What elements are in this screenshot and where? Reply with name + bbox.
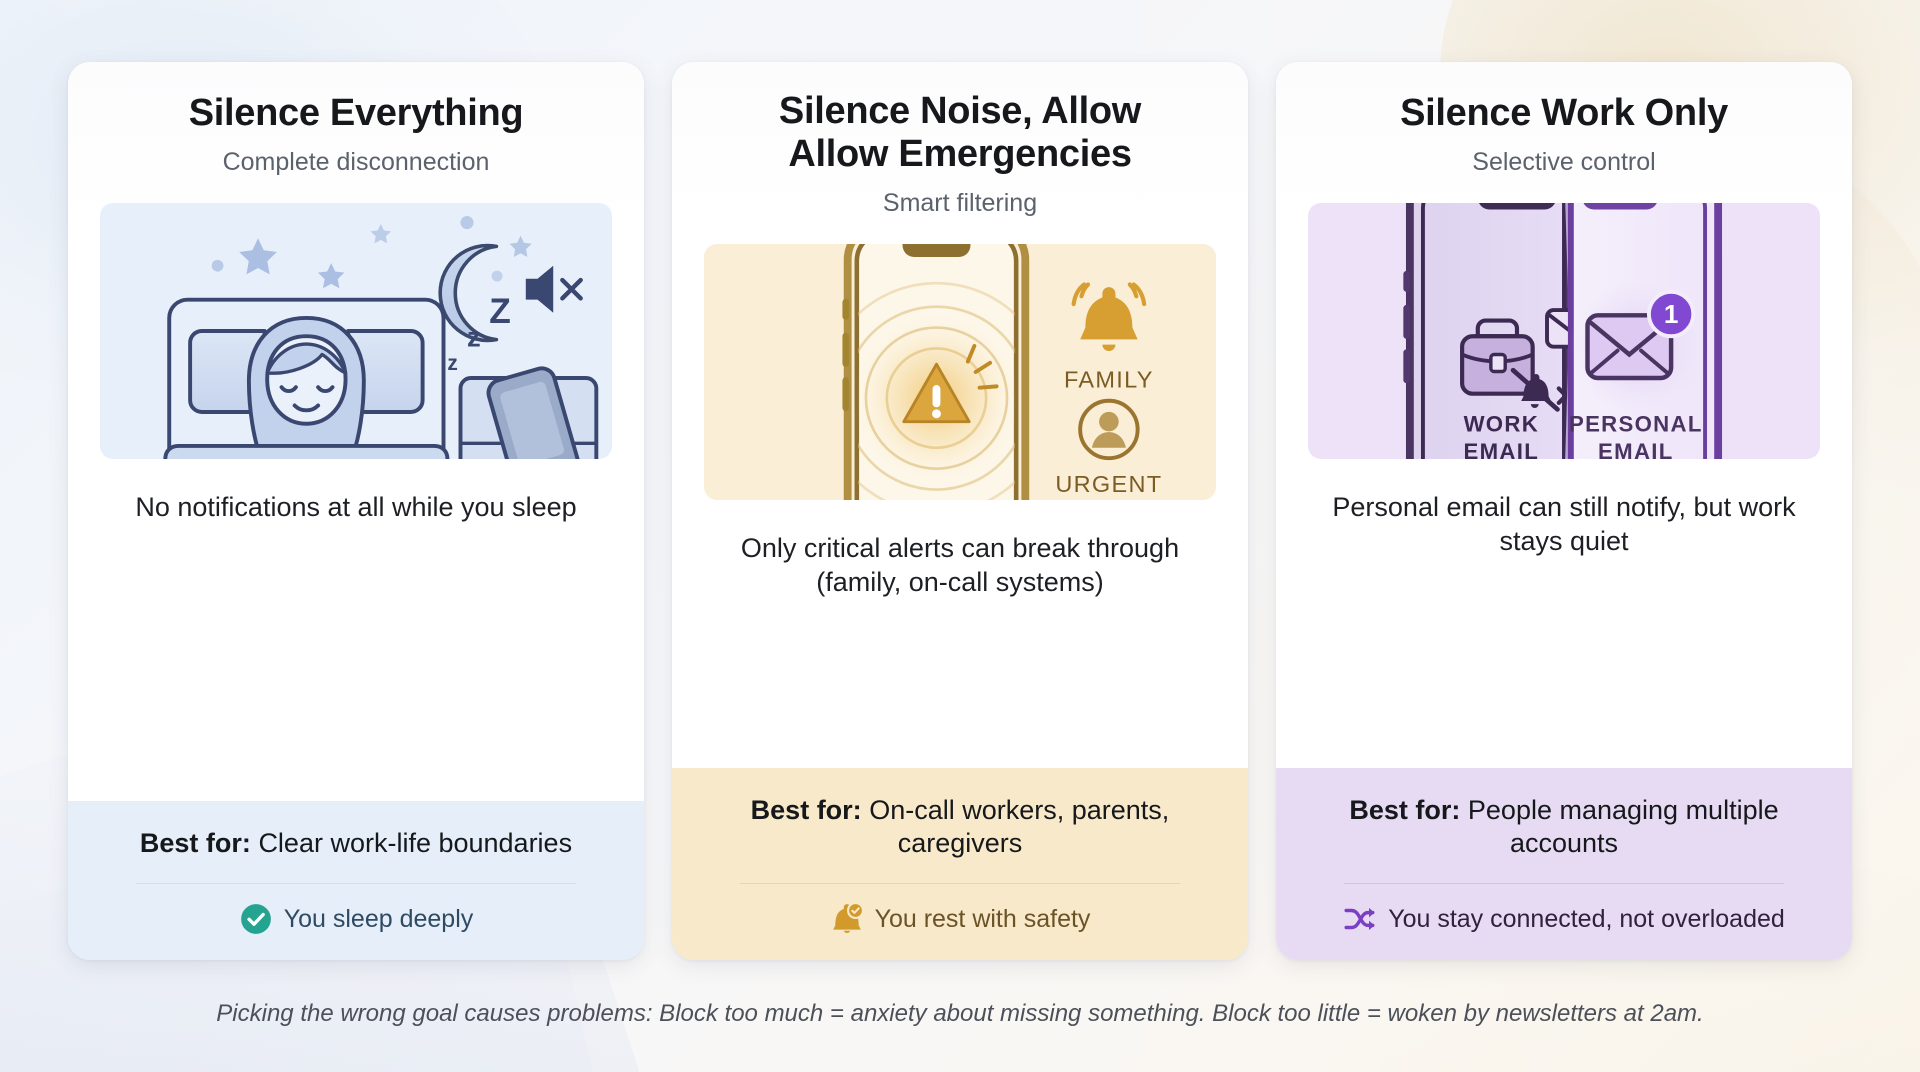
best-for-label: Best for:	[140, 828, 251, 858]
card-body: Silence Everything Complete disconnectio…	[68, 62, 644, 801]
best-for-line: Best for: People managing multiple accou…	[1310, 794, 1818, 862]
footer-divider	[1344, 883, 1784, 884]
card-title-line-2: Allow Emergencies	[704, 133, 1216, 176]
footer-divider	[740, 883, 1180, 884]
card-title: Silence Noise, Allow Allow Emergencies	[704, 90, 1216, 176]
best-for-value: People managing multiple accounts	[1468, 795, 1779, 859]
card-title: Silence Work Only	[1308, 92, 1820, 135]
card-subtitle: Smart filtering	[704, 189, 1216, 218]
bell-check-icon	[830, 902, 864, 936]
check-circle-icon	[239, 902, 273, 936]
footer-divider	[136, 883, 576, 884]
card-description: Only critical alerts can break through (…	[704, 532, 1216, 600]
illustration-phone-critical-alert: FAMILY URGENT	[704, 244, 1216, 500]
card-title: Silence Everything	[100, 92, 612, 135]
best-for-line: Best for: Clear work-life boundaries	[102, 827, 610, 861]
card-body: Silence Noise, Allow Allow Emergencies S…	[672, 62, 1248, 768]
best-for-value: Clear work-life boundaries	[258, 828, 572, 858]
best-for-label: Best for:	[1349, 795, 1460, 825]
outcome-text: You sleep deeply	[284, 905, 474, 934]
card-footer: Best for: People managing multiple accou…	[1276, 768, 1852, 961]
svg-text:Z: Z	[489, 292, 511, 331]
outcome-row: You rest with safety	[706, 902, 1214, 936]
comparison-board: Silence Everything Complete disconnectio…	[0, 0, 1920, 1072]
svg-text:EMAIL: EMAIL	[1464, 439, 1540, 459]
best-for-value: On-call workers, parents, caregivers	[869, 795, 1169, 859]
best-for-label: Best for:	[751, 795, 862, 825]
svg-text:1: 1	[1664, 299, 1679, 329]
card-subtitle: Selective control	[1308, 148, 1820, 177]
svg-text:WORK: WORK	[1464, 412, 1539, 437]
card-footer: Best for: On-call workers, parents, care…	[672, 768, 1248, 961]
footnote-caption: Picking the wrong goal causes problems: …	[0, 1000, 1920, 1028]
outcome-row: You sleep deeply	[102, 902, 610, 936]
card-subtitle: Complete disconnection	[100, 148, 612, 177]
card-row: Silence Everything Complete disconnectio…	[68, 62, 1852, 960]
outcome-text: You stay connected, not overloaded	[1388, 905, 1785, 934]
shuffle-icon	[1343, 902, 1377, 936]
outcome-row: You stay connected, not overloaded	[1310, 902, 1818, 936]
svg-text:z: z	[467, 322, 481, 353]
card-footer: Best for: Clear work-life boundaries You…	[68, 801, 644, 960]
illustration-split-phone-work-personal: WORK EMAIL	[1308, 203, 1820, 459]
best-for-line: Best for: On-call workers, parents, care…	[706, 794, 1214, 862]
option-card-silence-everything[interactable]: Silence Everything Complete disconnectio…	[68, 62, 644, 960]
svg-text:URGENT: URGENT	[1055, 471, 1162, 497]
card-description: Personal email can still notify, but wor…	[1308, 491, 1820, 559]
option-card-silence-noise-allow-emergencies[interactable]: Silence Noise, Allow Allow Emergencies S…	[672, 62, 1248, 960]
svg-text:EMAIL: EMAIL	[1598, 439, 1674, 459]
outcome-text: You rest with safety	[875, 905, 1091, 934]
option-card-silence-work-only[interactable]: Silence Work Only Selective control	[1276, 62, 1852, 960]
svg-text:z: z	[447, 352, 457, 375]
illustration-sleeping-person-night: Z z z	[100, 203, 612, 459]
card-description: No notifications at all while you sleep	[100, 491, 612, 525]
card-title-line-1: Silence Noise, Allow	[704, 90, 1216, 133]
svg-text:FAMILY: FAMILY	[1064, 367, 1154, 393]
card-body: Silence Work Only Selective control	[1276, 62, 1852, 768]
svg-text:PERSONAL: PERSONAL	[1569, 412, 1703, 437]
